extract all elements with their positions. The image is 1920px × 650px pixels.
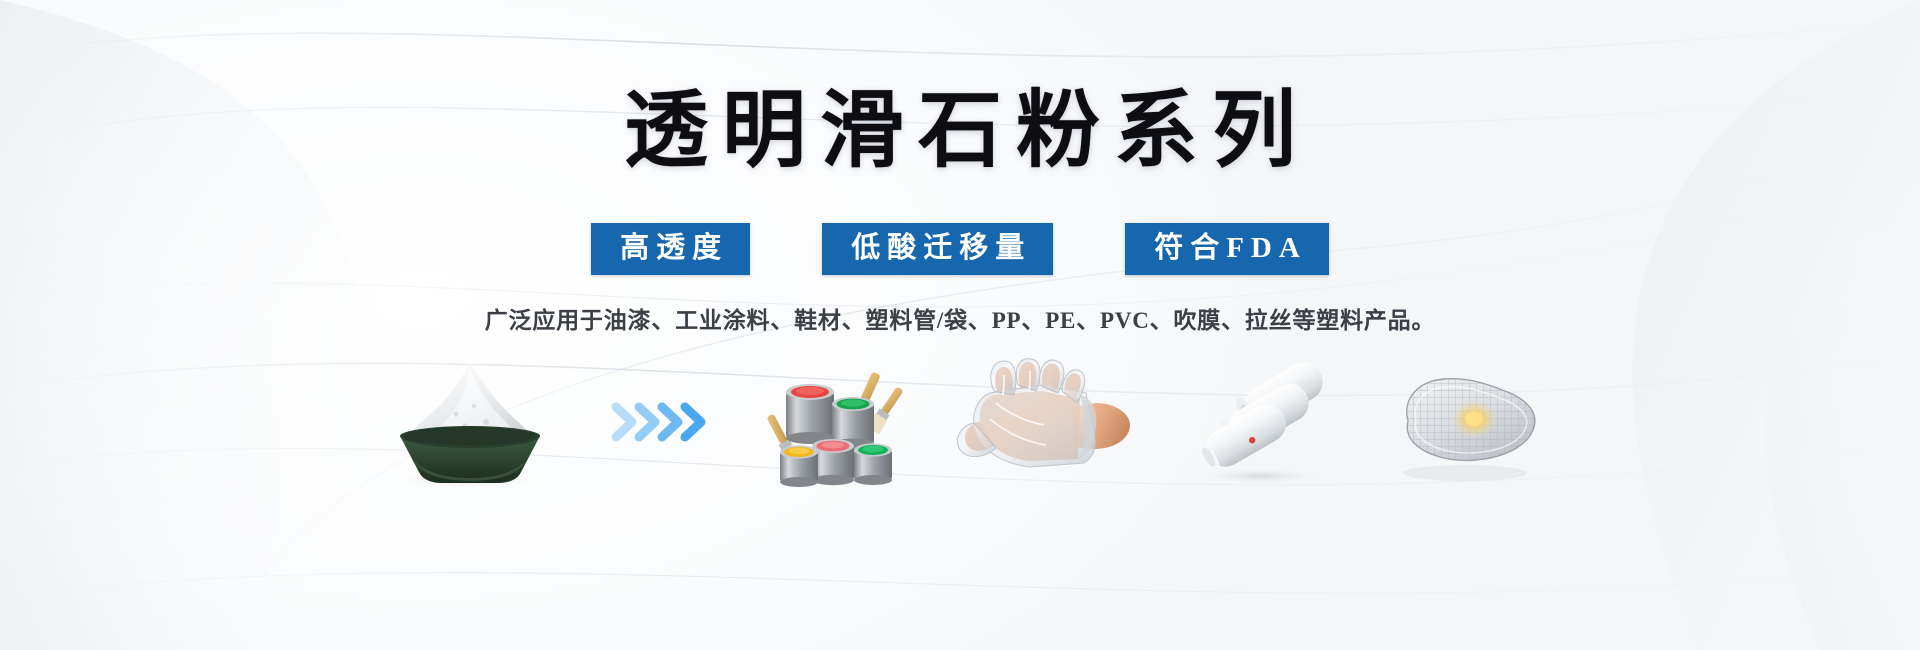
product-image-strip	[0, 352, 1920, 492]
product-banner: 透明滑石粉系列 高透度 低酸迁移量 符合FDA 广泛应用于油漆、工业涂料、鞋材、…	[0, 0, 1920, 650]
feature-badge-low-acid-migration[interactable]: 低酸迁移量	[822, 223, 1053, 275]
feature-badge-list: 高透度 低酸迁移量 符合FDA	[0, 223, 1920, 275]
shoe-insole-image	[1380, 357, 1550, 487]
paint-cans-brushes-image	[756, 357, 906, 487]
feature-badge-high-transparency[interactable]: 高透度	[591, 223, 750, 275]
talc-powder-bowl-image	[370, 357, 570, 487]
feature-badge-fda-compliant[interactable]: 符合FDA	[1125, 223, 1329, 275]
application-description: 广泛应用于油漆、工业涂料、鞋材、塑料管/袋、PP、PE、PVC、吹膜、拉丝等塑料…	[0, 306, 1920, 336]
process-arrows-icon	[608, 357, 718, 487]
gloved-hand-image	[944, 357, 1134, 487]
plastic-film-rolls-image	[1172, 357, 1342, 487]
page-title: 透明滑石粉系列	[0, 80, 1920, 184]
